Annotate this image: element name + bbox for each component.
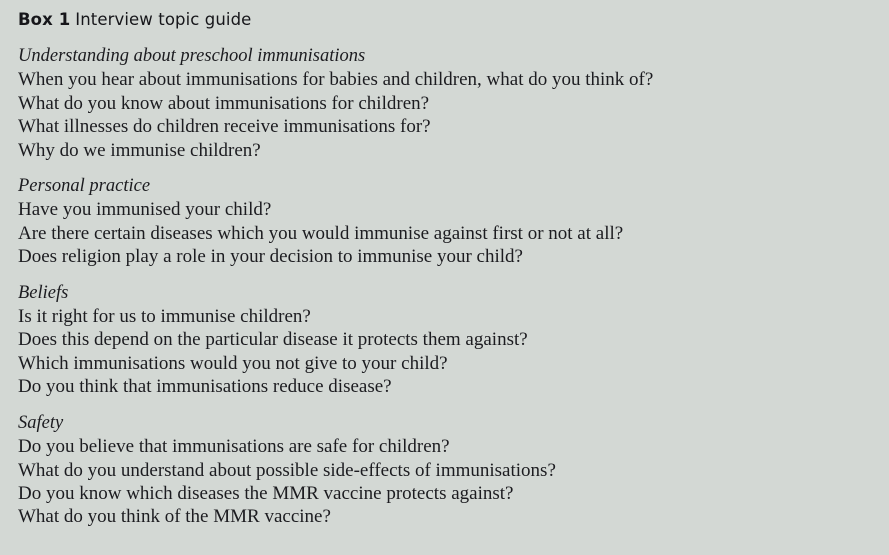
topic-section: SafetyDo you believe that immunisations … (18, 412, 873, 529)
topic-section: BeliefsIs it right for us to immunise ch… (18, 282, 873, 399)
question-line: Is it right for us to immunise children? (18, 305, 873, 328)
question-line: Do you think that immunisations reduce d… (18, 375, 873, 398)
box-number-label: Box 1 (18, 10, 70, 29)
question-line: What do you understand about possible si… (18, 459, 873, 482)
question-line: Does religion play a role in your decisi… (18, 245, 873, 268)
question-line: Do you know which diseases the MMR vacci… (18, 482, 873, 505)
question-line: Which immunisations would you not give t… (18, 352, 873, 375)
box-caption: Interview topic guide (75, 10, 251, 29)
topic-section: Personal practiceHave you immunised your… (18, 175, 873, 269)
question-line: Are there certain diseases which you wou… (18, 222, 873, 245)
topic-section-list: Understanding about preschool immunisati… (18, 45, 873, 529)
question-line: What do you know about immunisations for… (18, 92, 873, 115)
question-line: What illnesses do children receive immun… (18, 115, 873, 138)
question-line: What do you think of the MMR vaccine? (18, 505, 873, 528)
question-line: Do you believe that immunisations are sa… (18, 435, 873, 458)
box-container: Box 1Interview topic guide Understanding… (0, 0, 889, 555)
section-heading: Beliefs (18, 282, 873, 305)
question-line: Why do we immunise children? (18, 139, 873, 162)
question-line: When you hear about immunisations for ba… (18, 68, 873, 91)
topic-section: Understanding about preschool immunisati… (18, 45, 873, 162)
question-line: Have you immunised your child? (18, 198, 873, 221)
box-title: Box 1Interview topic guide (18, 9, 873, 31)
question-line: Does this depend on the particular disea… (18, 328, 873, 351)
section-heading: Personal practice (18, 175, 873, 198)
section-heading: Safety (18, 412, 873, 435)
section-heading: Understanding about preschool immunisati… (18, 45, 873, 68)
